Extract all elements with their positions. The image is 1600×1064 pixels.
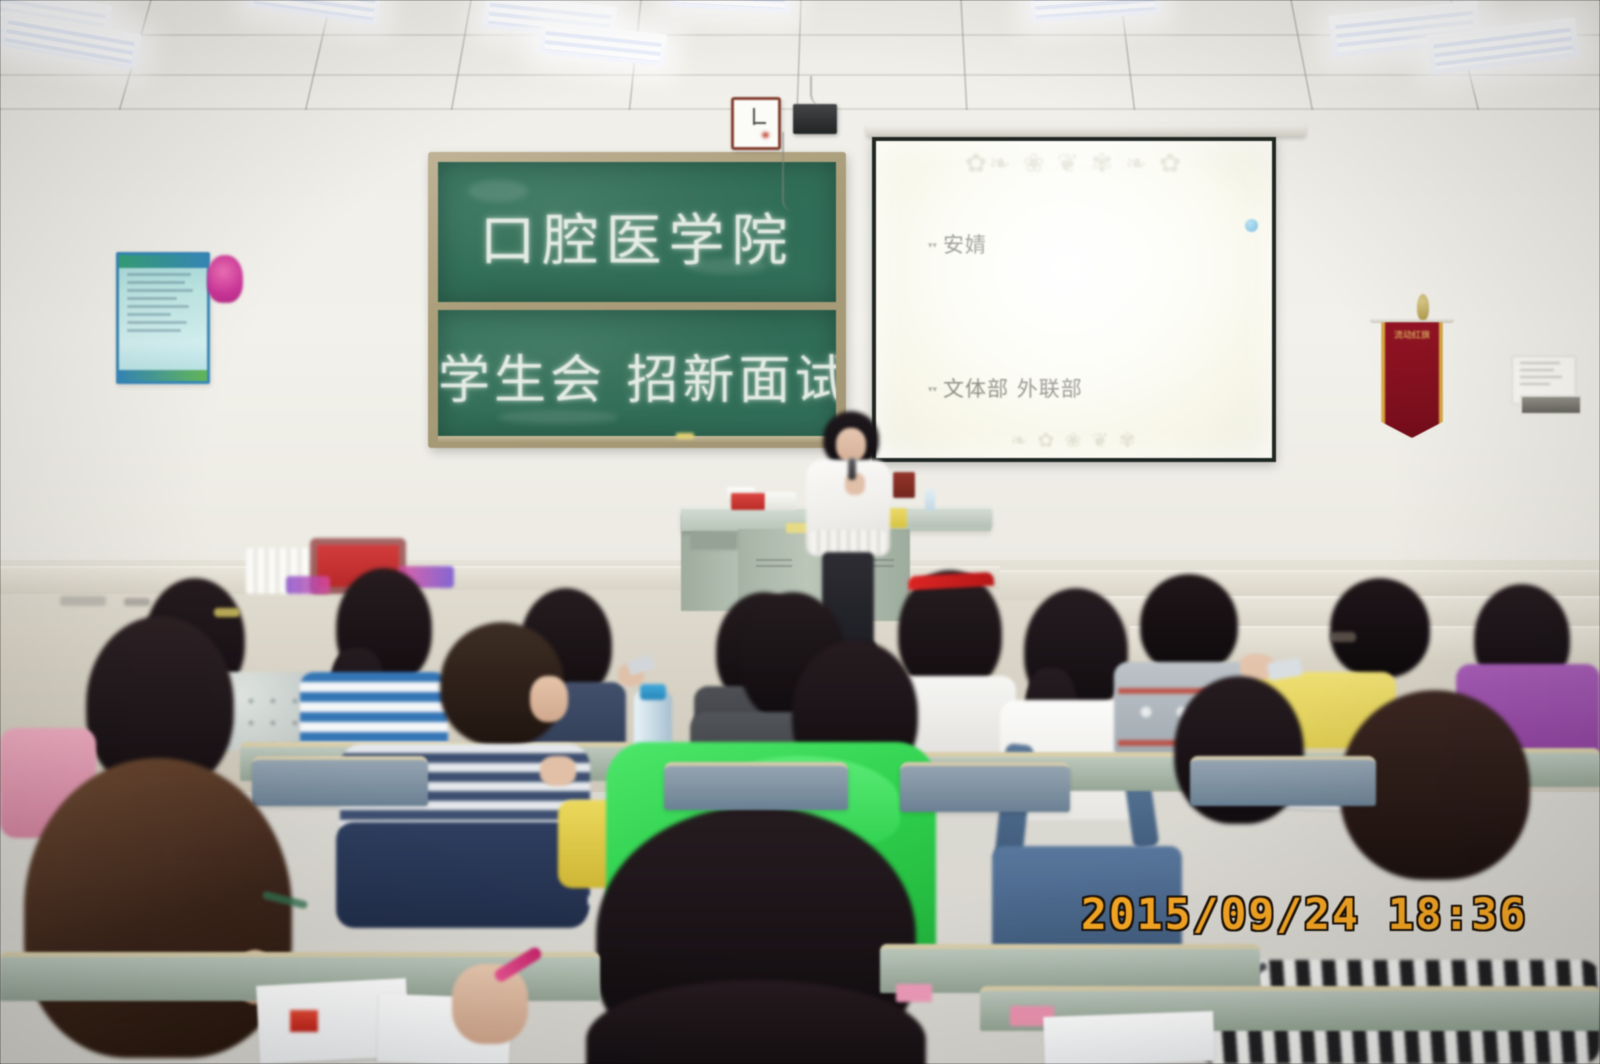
- chalk-piece: [676, 433, 694, 439]
- camera-timestamp: 2015/09/24 18:36: [1081, 890, 1527, 940]
- slide-text-departments: 文体部 外联部: [943, 377, 1083, 401]
- wall-speaker: [793, 104, 837, 134]
- tinsel-decoration: [286, 576, 330, 594]
- podium-shelf-cavity: [690, 532, 738, 550]
- white-box-on-desk: [766, 492, 796, 510]
- slide-accent-dot-icon: [1245, 219, 1258, 232]
- red-wall-object: [893, 472, 915, 498]
- water-bottle-cap: [640, 684, 666, 700]
- blackboard-lower-panel: 学生会 招新面试: [438, 310, 836, 438]
- slide-text-name: 安婧: [943, 233, 987, 257]
- slide-ornament-bottom: ❧ ✿ ❀ ❦ ✾: [876, 428, 1272, 452]
- projector-screen-roller: [866, 124, 1306, 137]
- wall-name-plate: [1520, 395, 1582, 415]
- seat-back: [900, 762, 1070, 812]
- blackboard-subtitle-text: 学生会 招新面试: [438, 338, 836, 413]
- blackboard-upper-panel: 口腔医学院: [438, 162, 836, 302]
- student-hand: [540, 756, 576, 786]
- notice-poster: [116, 252, 210, 384]
- pink-sticky-note: [896, 984, 932, 1002]
- student-glasses-icon: [214, 608, 240, 617]
- student-head-foreground: [24, 758, 292, 1058]
- speaker-wire: [810, 76, 826, 106]
- form-stamp: [290, 1010, 318, 1032]
- presenter-microphone: [848, 458, 856, 480]
- projector-screen: ✿❧ ❀ ❦ ✾ ❧ ✿ ▾▾安婧 ▾▾文体部 外联部 ❧ ✿ ❀ ❦ ✾: [872, 137, 1276, 462]
- decorative-pompom: [207, 255, 243, 303]
- wall-clock: [731, 97, 781, 150]
- screen-glare: [876, 141, 1272, 458]
- blackboard-title-text: 口腔医学院: [438, 196, 836, 277]
- student-hand: [452, 964, 528, 1044]
- slide-bullet-icon: ▾▾: [928, 385, 937, 395]
- student-head: [1330, 578, 1430, 678]
- classroom-photo: 口腔医学院 学生会 招新面试 ✿❧ ❀ ❦ ✾ ❧ ✿ ▾▾安婧 ▾▾文体部 外…: [0, 0, 1600, 1064]
- application-form-paper: [1043, 1011, 1215, 1064]
- bottle-on-desk: [925, 489, 935, 511]
- red-box-on-desk: [731, 493, 765, 510]
- seat-back: [1190, 756, 1376, 806]
- seat-back: [252, 756, 428, 806]
- pennant-hook: [1417, 294, 1429, 320]
- small-desk-object: [60, 596, 106, 606]
- presenter-face: [836, 428, 866, 462]
- presenter-jacket-ruffle: [810, 530, 886, 554]
- slide-bullet-icon: ▾▾: [928, 241, 937, 251]
- desk-right-extension: [908, 510, 992, 528]
- student-head: [1140, 574, 1238, 674]
- speaker-wire: [782, 132, 794, 212]
- chalk-tray: [438, 436, 836, 443]
- student-face-profile: [530, 676, 568, 722]
- small-desk-object: [124, 598, 150, 606]
- student-navy-panel: [336, 822, 588, 928]
- presentation-slide: ✿❧ ❀ ❦ ✾ ❧ ✿ ▾▾安婧 ▾▾文体部 外联部 ❧ ✿ ❀ ❦ ✾: [876, 141, 1272, 458]
- student-glasses-icon: [1330, 632, 1356, 642]
- seat-back: [664, 762, 848, 810]
- slide-ornament-top: ✿❧ ❀ ❦ ✾ ❧ ✿: [876, 149, 1272, 179]
- honor-pennant: 流动红旗: [1381, 322, 1443, 438]
